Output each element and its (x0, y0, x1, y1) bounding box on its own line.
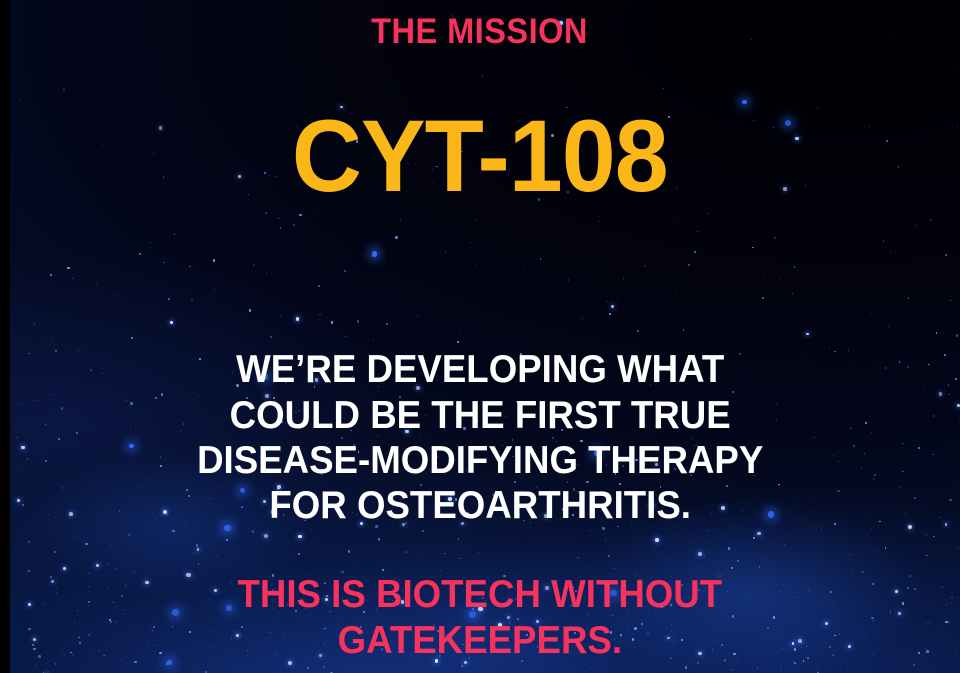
body-line: DISEASE-MODIFYING THERAPY (197, 438, 763, 483)
closing-statement: THIS IS BIOTECH WITHOUT GATEKEEPERS. (238, 572, 723, 662)
body-line: COULD BE THE FIRST TRUE (197, 393, 763, 438)
page-title: CYT-108 (292, 105, 668, 207)
closing-line: THIS IS BIOTECH WITHOUT (238, 572, 723, 617)
slide-content: THE MISSION CYT-108 WE’RE DEVELOPING WHA… (0, 0, 960, 673)
mission-slide: THE MISSION CYT-108 WE’RE DEVELOPING WHA… (0, 0, 960, 673)
left-black-bar (0, 0, 10, 673)
eyebrow-label: THE MISSION (372, 14, 589, 49)
body-paragraph: WE’RE DEVELOPING WHAT COULD BE THE FIRST… (197, 347, 763, 528)
closing-line: GATEKEEPERS. (238, 618, 723, 663)
body-line: FOR OSTEOARTHRITIS. (197, 483, 763, 528)
body-line: WE’RE DEVELOPING WHAT (197, 347, 763, 392)
